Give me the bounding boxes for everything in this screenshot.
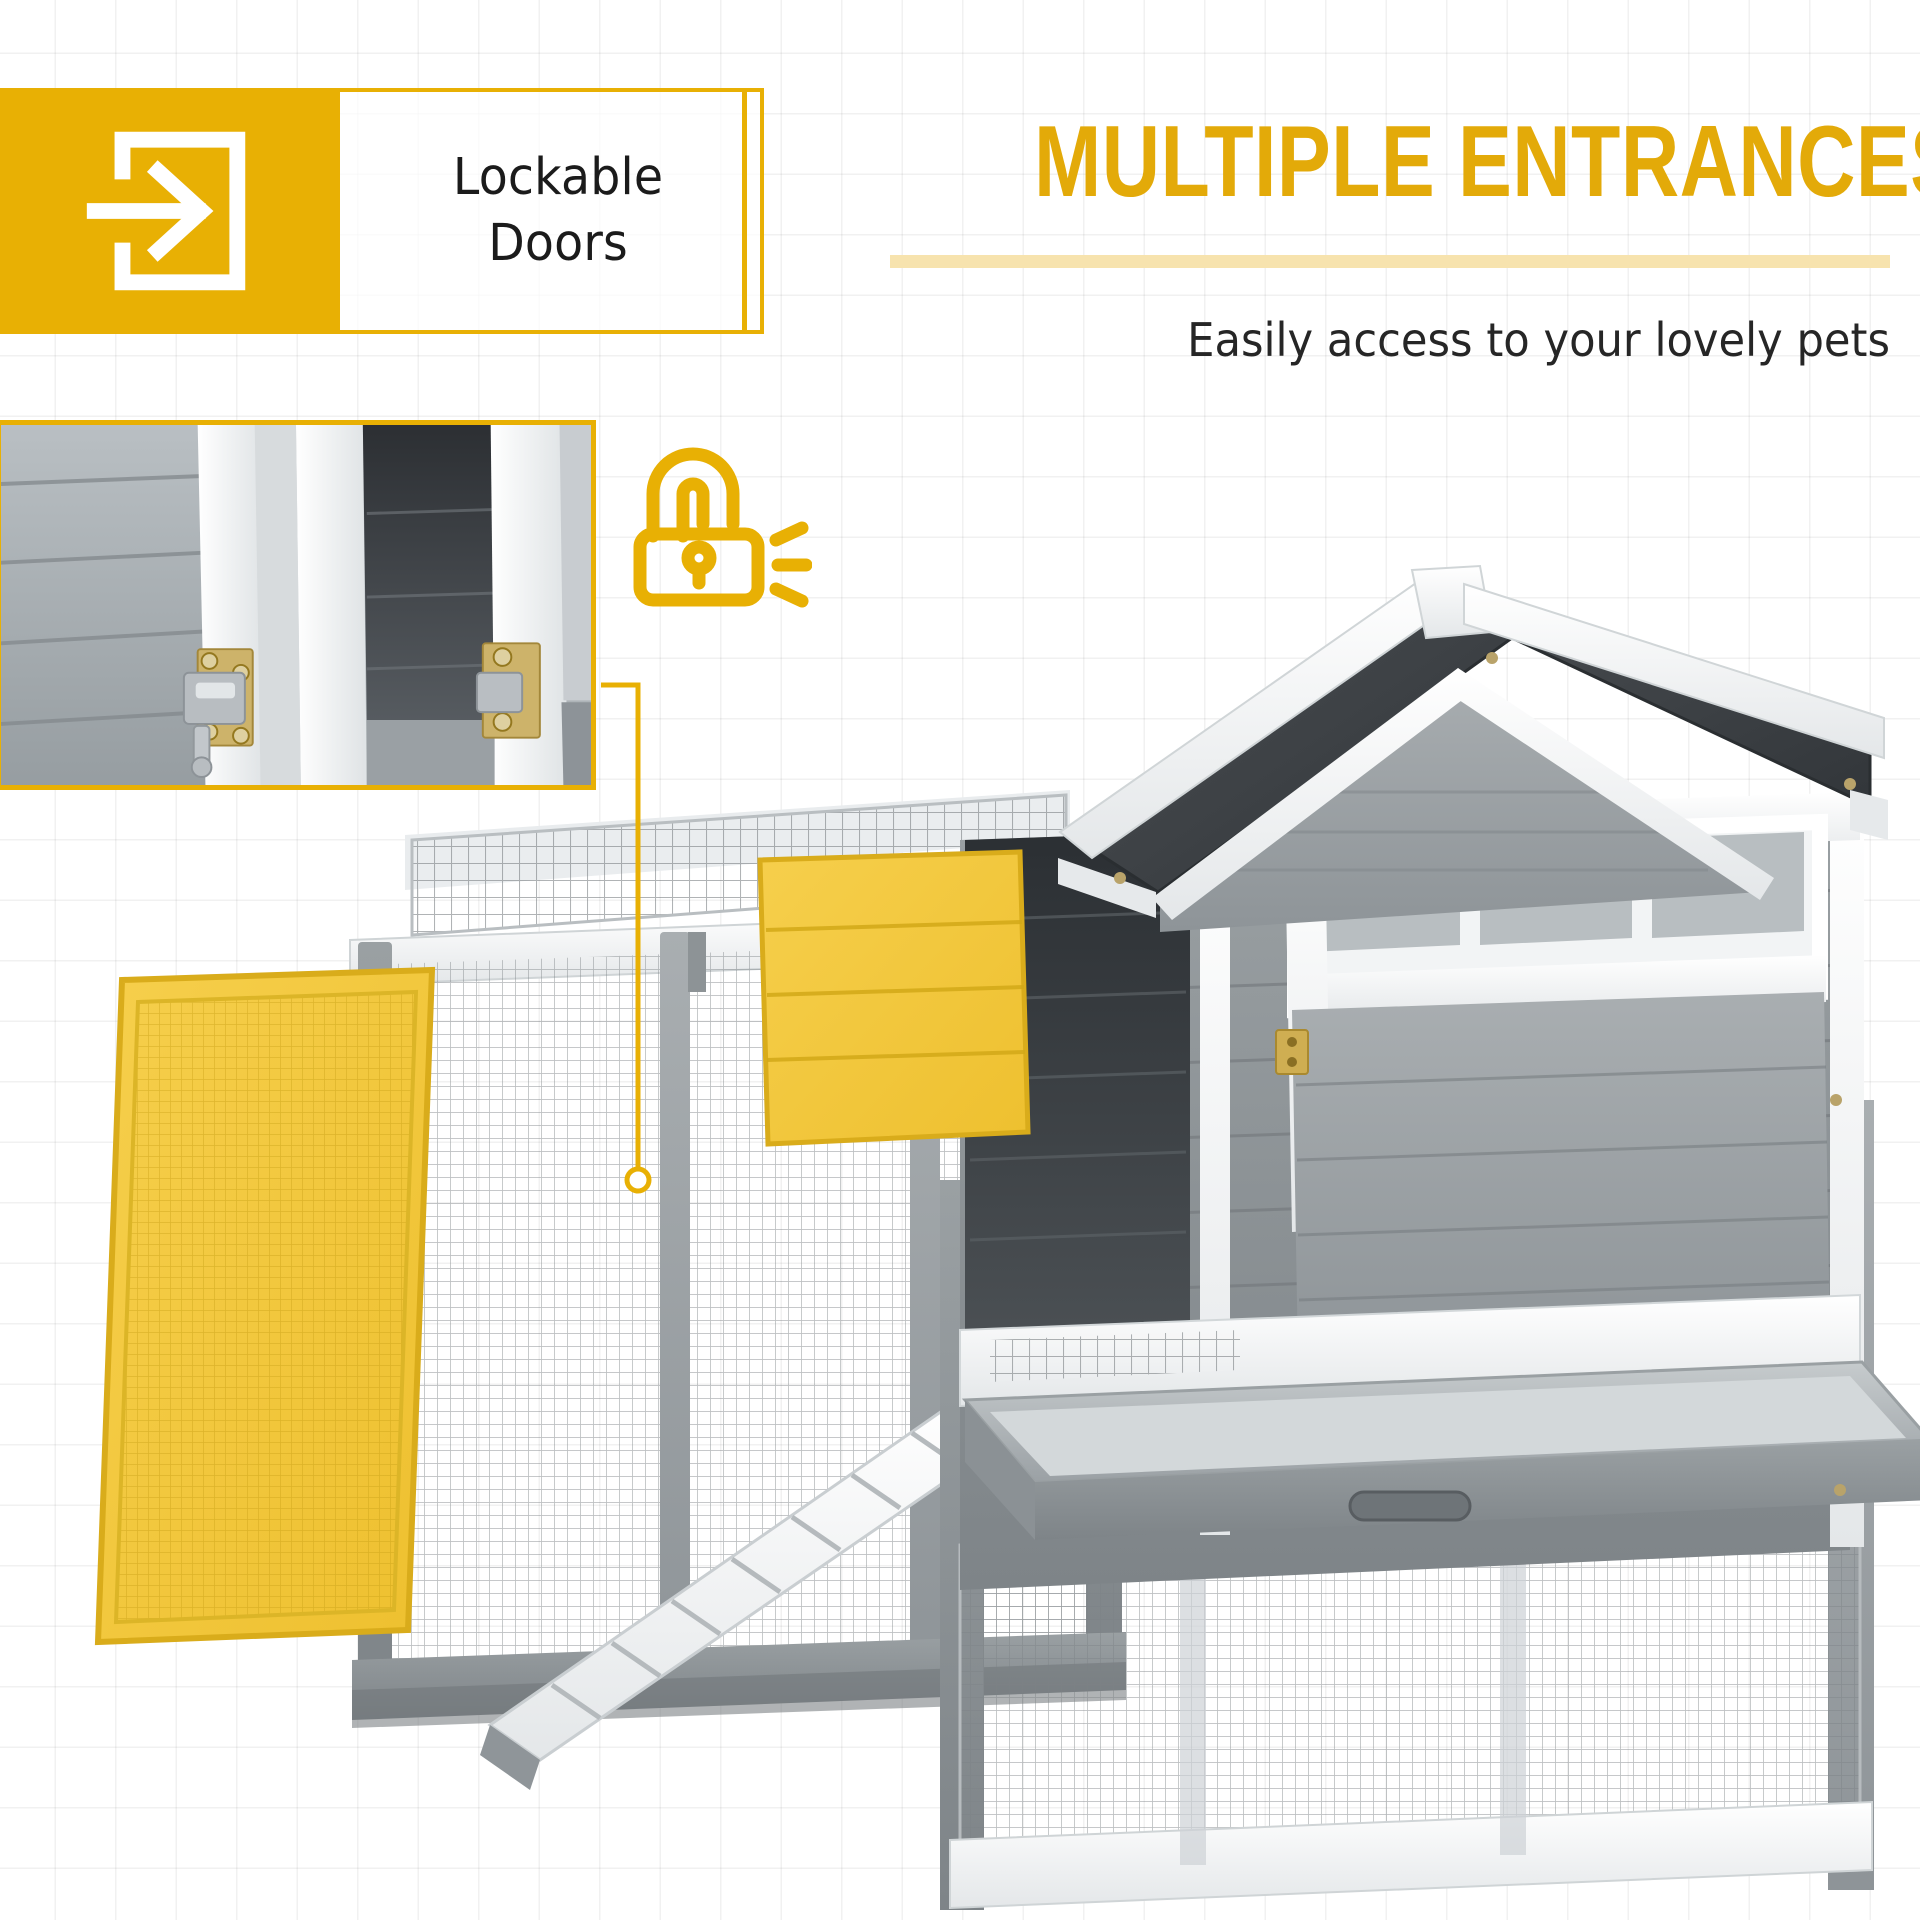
- badge-label: LockableDoors: [453, 145, 663, 278]
- feature-badge: LockableDoors: [0, 88, 764, 334]
- page-subtitle: Easily access to your lovely pets: [884, 313, 1890, 368]
- title-underline-rule: [890, 255, 1890, 268]
- detail-inset-photo: [0, 420, 596, 790]
- badge-label-box: LockableDoors: [340, 88, 764, 334]
- enter-door-arrow-icon: [71, 112, 269, 310]
- badge-divider: [742, 88, 747, 334]
- page-title: MULTIPLE ENTRANCES: [1034, 112, 1890, 213]
- header-text-block: MULTIPLE ENTRANCES Easily access to your…: [820, 112, 1890, 368]
- badge-label-line-2: Doors: [453, 211, 663, 277]
- unlocked-padlock-icon: [630, 432, 812, 612]
- badge-label-line-1: Lockable: [453, 145, 663, 211]
- badge-icon-swatch: [0, 88, 340, 334]
